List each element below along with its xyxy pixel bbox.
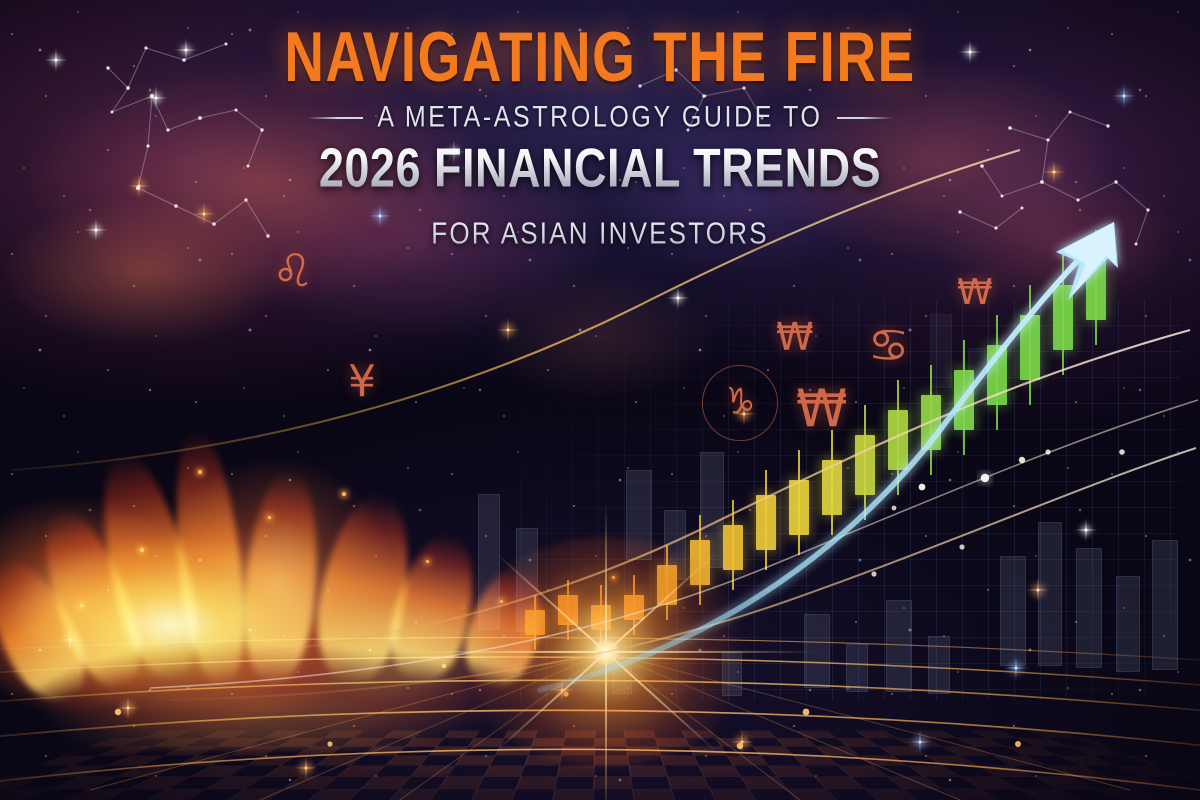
ember: [268, 516, 271, 519]
leo-zodiac-glyph: ♌: [270, 247, 314, 296]
title-block: NAVIGATING THE FIRE A META-ASTROLOGY GUI…: [0, 22, 1200, 249]
subtitle-row: A META-ASTROLOGY GUIDE TO: [0, 103, 1200, 132]
yen-currency-glyph: ¥: [348, 360, 376, 404]
subtitle-audience: FOR ASIAN INVESTORS: [0, 215, 1200, 252]
subtitle-headline: 2026 FINANCIAL TRENDS: [0, 136, 1200, 199]
divider-dash-right: [837, 117, 893, 119]
subtitle-kicker: A META-ASTROLOGY GUIDE TO: [377, 100, 822, 135]
poster-canvas: ♌¥♑₩♋₩₩ NAVIGATING THE FIRE A META-ASTRO…: [0, 0, 1200, 800]
ember: [140, 548, 144, 552]
divider-dash-left: [307, 117, 363, 119]
ember: [198, 470, 202, 474]
ember: [80, 604, 83, 607]
ember: [426, 560, 429, 563]
ember: [342, 492, 346, 496]
page-title: NAVIGATING THE FIRE: [0, 22, 1200, 92]
